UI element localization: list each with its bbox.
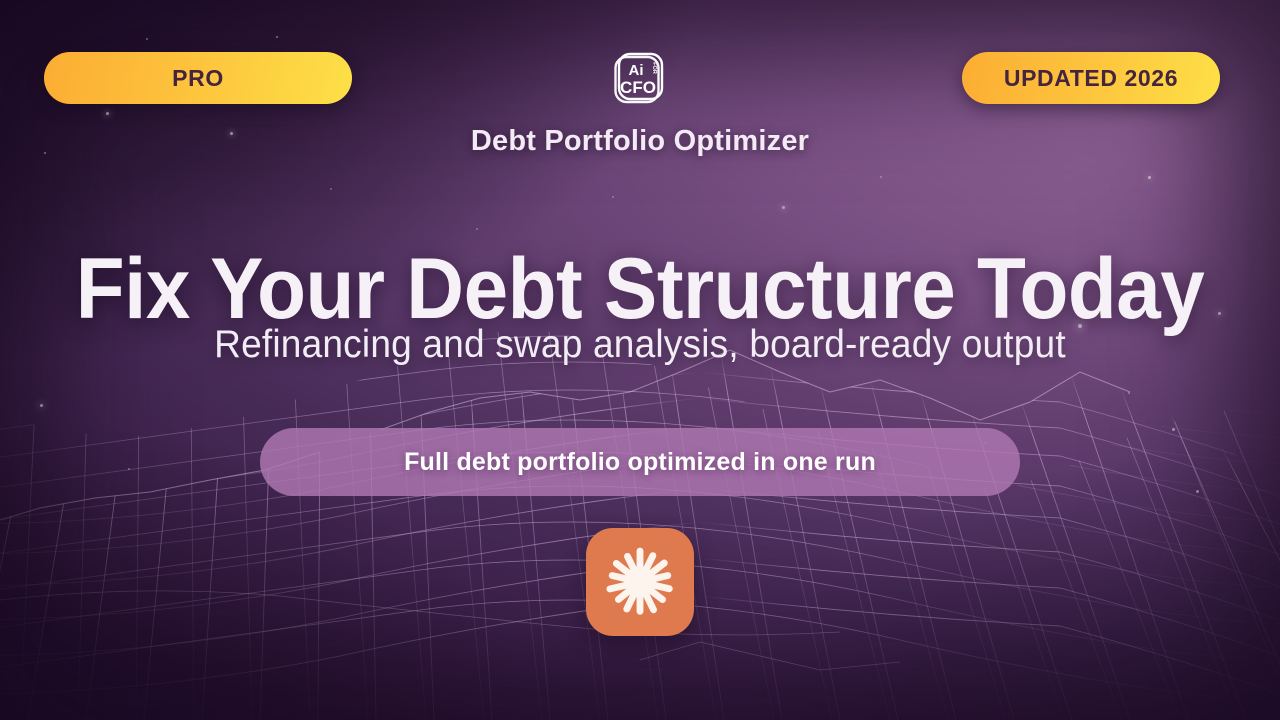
- hero-banner: PRO UPDATED 2026 Ai FOR CFO Debt Portfol…: [0, 0, 1280, 720]
- ai-for-cfo-logo-icon: Ai FOR CFO: [612, 48, 668, 106]
- pro-badge-label: PRO: [172, 65, 224, 92]
- page-title: Fix Your Debt Structure Today: [45, 246, 1235, 334]
- logo-text-for: FOR: [651, 62, 657, 74]
- brand-logo[interactable]: Ai FOR CFO: [612, 48, 668, 106]
- cta-pill-label: Full debt portfolio optimized in one run: [404, 448, 876, 477]
- cta-pill-button[interactable]: Full debt portfolio optimized in one run: [260, 428, 1020, 496]
- logo-text-ai: Ai: [629, 62, 644, 79]
- pro-badge[interactable]: PRO: [44, 52, 352, 104]
- updated-badge-label: UPDATED 2026: [1004, 65, 1178, 92]
- updated-badge[interactable]: UPDATED 2026: [962, 52, 1220, 104]
- tagline-text: Refinancing and swap analysis, board-rea…: [32, 323, 1248, 367]
- logo-text-cfo: CFO: [620, 78, 656, 97]
- eyebrow-text: Debt Portfolio Optimizer: [0, 125, 1280, 158]
- starburst-icon: [601, 543, 679, 621]
- app-icon[interactable]: [586, 528, 694, 636]
